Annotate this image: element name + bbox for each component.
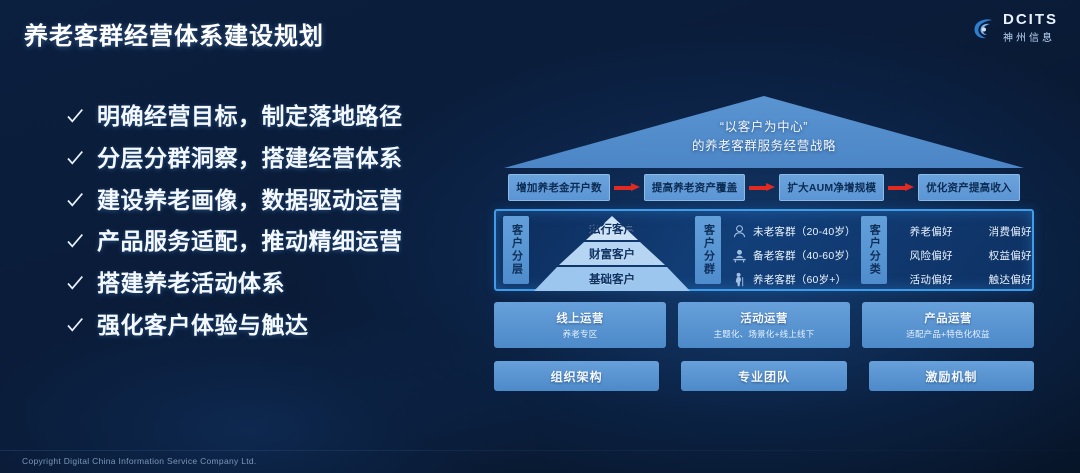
list-item-label: 建设养老画像，数据驱动运营 <box>97 188 403 213</box>
logo-text-en: DCITS <box>1003 11 1058 28</box>
strategy-roof: “以客户为中心” 的养老客群服务经营战略 <box>504 96 1024 168</box>
elderly-cane-icon <box>732 272 747 287</box>
label-customer-class: 客户分类 <box>861 216 887 284</box>
flow-step[interactable]: 提高养老资产覆盖 <box>644 174 746 201</box>
young-person-icon <box>732 224 747 239</box>
card-title: 产品运营 <box>924 310 972 326</box>
copyright-notice: Copyright Digital China Information Serv… <box>22 456 257 466</box>
person-desk-icon <box>732 248 747 263</box>
check-icon <box>66 232 84 256</box>
page-title: 养老客群经营体系建设规划 <box>24 16 324 51</box>
brand-logo: DCITS 神州信息 <box>971 12 1058 46</box>
foundation-card-team[interactable]: 专业团队 <box>681 361 846 391</box>
label-customer-group: 客户分群 <box>695 216 721 284</box>
preference-item: 风险偏好 <box>892 243 971 267</box>
roof-line-1: “以客户为中心” <box>504 118 1024 137</box>
customer-segmentation-panel: 客户分层 私行客户 财富客户 基础客户 客户分群 未老客群（20-40岁） <box>494 209 1034 291</box>
preference-item: 活动偏好 <box>892 267 971 291</box>
list-item-label: 搭建养老活动体系 <box>97 271 285 296</box>
footer-divider <box>0 450 1080 451</box>
preference-item: 消费偏好 <box>971 219 1050 243</box>
operation-card-online[interactable]: 线上运营 养老专区 <box>494 302 666 348</box>
list-item: 搭建养老活动体系 <box>66 271 486 296</box>
preference-item: 养老偏好 <box>892 219 971 243</box>
preference-grid: 养老偏好 消费偏好 风险偏好 权益偏好 活动偏好 触达偏好 <box>890 215 1052 285</box>
preference-item: 触达偏好 <box>971 267 1050 291</box>
list-item-label: 产品服务适配，推动精细运营 <box>97 229 403 254</box>
list-item: 分层分群洞察，搭建经营体系 <box>66 146 486 171</box>
roof-text: “以客户为中心” 的养老客群服务经营战略 <box>504 118 1024 157</box>
flow-step[interactable]: 扩大AUM净增规模 <box>779 174 884 201</box>
list-item-label: 强化客户体验与触达 <box>97 313 309 338</box>
roof-line-2: 的养老客群服务经营战略 <box>504 137 1024 156</box>
header: 养老客群经营体系建设规划 DCITS 神州信息 <box>0 0 1080 58</box>
list-item-label: 分层分群洞察，搭建经营体系 <box>97 146 403 171</box>
strategy-diagram: “以客户为中心” 的养老客群服务经营战略 增加养老金开户数 提高养老资产覆盖 扩… <box>494 96 1034 426</box>
group-label: 未老客群（20-40岁） <box>753 224 856 239</box>
list-item: 未老客群（20-40岁） <box>732 219 856 243</box>
label-customer-tier: 客户分层 <box>503 216 529 284</box>
flow-step[interactable]: 增加养老金开户数 <box>508 174 610 201</box>
group-label: 养老客群（60岁+） <box>753 272 846 287</box>
arrow-right-icon <box>888 183 914 192</box>
card-subtitle: 养老专区 <box>563 328 598 340</box>
key-points-list: 明确经营目标，制定落地路径 分层分群洞察，搭建经营体系 建设养老画像，数据驱动运… <box>66 104 486 355</box>
operations-row: 线上运营 养老专区 活动运营 主题化、场景化+线上线下 产品运营 适配产品+特色… <box>494 302 1034 348</box>
operation-card-product[interactable]: 产品运营 适配产品+特色化权益 <box>862 302 1034 348</box>
arrow-right-icon <box>614 183 640 192</box>
check-icon <box>66 191 84 215</box>
card-subtitle: 主题化、场景化+线上线下 <box>714 328 815 340</box>
foundation-card-org[interactable]: 组织架构 <box>494 361 659 391</box>
card-subtitle: 适配产品+特色化权益 <box>906 328 989 340</box>
flow-step[interactable]: 优化资产提高收入 <box>918 174 1020 201</box>
card-title: 线上运营 <box>556 310 604 326</box>
check-icon <box>66 107 84 131</box>
list-item-label: 明确经营目标，制定落地路径 <box>97 104 403 129</box>
group-label: 备老客群（40-60岁） <box>753 248 856 263</box>
list-item: 备老客群（40-60岁） <box>732 243 856 267</box>
list-item: 强化客户体验与触达 <box>66 313 486 338</box>
list-item: 建设养老画像，数据驱动运营 <box>66 188 486 213</box>
customer-tier-pyramid: 私行客户 财富客户 基础客户 <box>532 215 692 285</box>
dcits-swirl-icon <box>971 16 997 42</box>
logo-text-cn: 神州信息 <box>1003 33 1055 44</box>
check-icon <box>66 149 84 173</box>
preference-item: 权益偏好 <box>971 243 1050 267</box>
card-title: 活动运营 <box>740 310 788 326</box>
foundation-row: 组织架构 专业团队 激励机制 <box>494 361 1034 391</box>
check-icon <box>66 316 84 340</box>
operation-card-activity[interactable]: 活动运营 主题化、场景化+线上线下 <box>678 302 850 348</box>
foundation-card-incentive[interactable]: 激励机制 <box>869 361 1034 391</box>
list-item: 产品服务适配，推动精细运营 <box>66 229 486 254</box>
goal-flow: 增加养老金开户数 提高养老资产覆盖 扩大AUM净增规模 优化资产提高收入 <box>494 174 1034 201</box>
list-item: 养老客群（60岁+） <box>732 267 856 291</box>
pyramid-tier: 基础客户 <box>532 268 692 290</box>
list-item: 明确经营目标，制定落地路径 <box>66 104 486 129</box>
pyramid-tier: 私行客户 <box>532 218 692 240</box>
arrow-right-icon <box>749 183 775 192</box>
check-icon <box>66 274 84 298</box>
pyramid-tier: 财富客户 <box>532 243 692 265</box>
customer-group-list: 未老客群（20-40岁） 备老客群（40-60岁） 养老客群（60岁+） <box>724 215 858 285</box>
